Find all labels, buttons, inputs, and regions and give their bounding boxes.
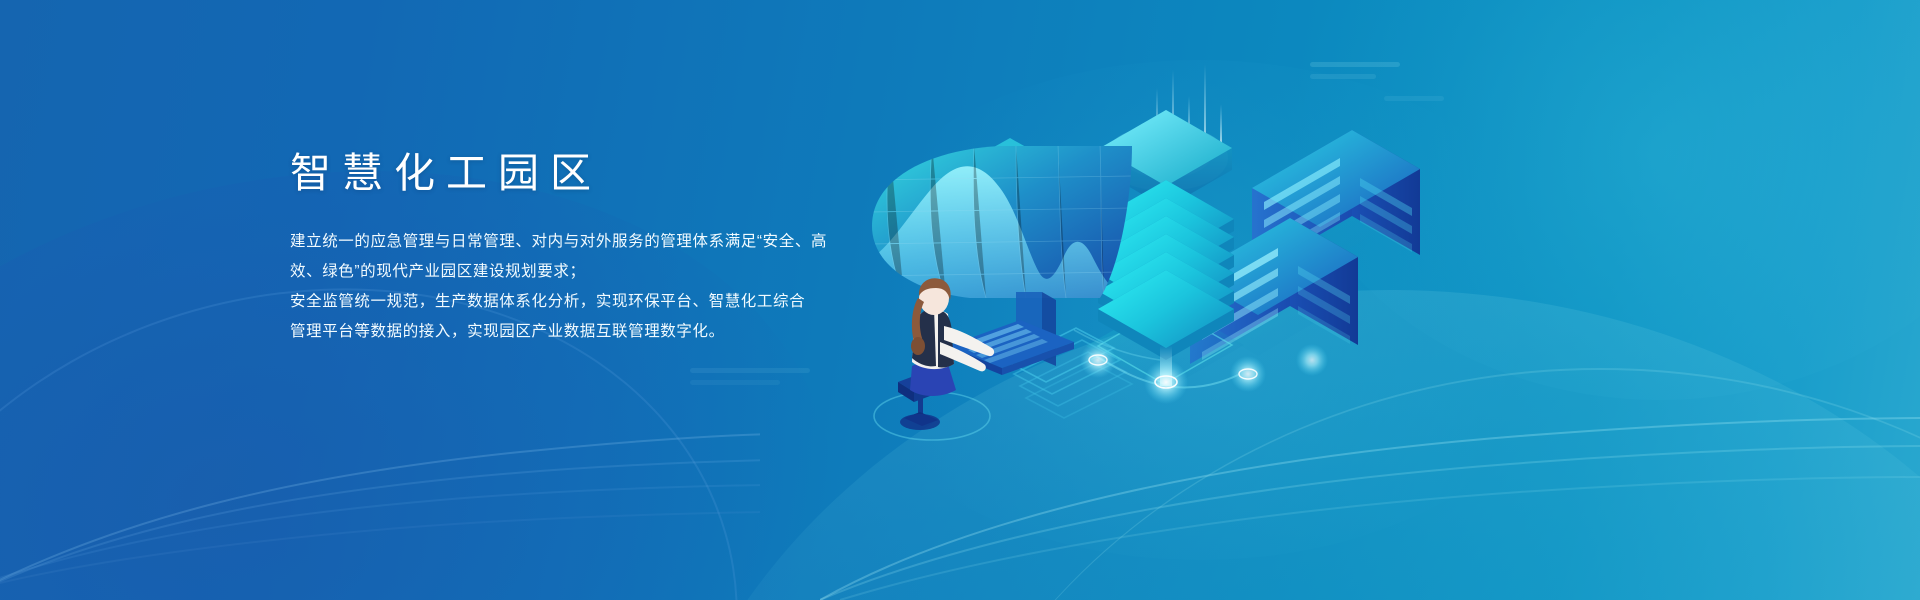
- banner-description: 建立统一的应急管理与日常管理、对内与对外服务的管理体系满足“安全、高 效、绿色”…: [290, 227, 910, 347]
- banner-copy: 智慧化工园区 建立统一的应急管理与日常管理、对内与对外服务的管理体系满足“安全、…: [290, 148, 910, 347]
- page-title: 智慧化工园区: [290, 148, 910, 199]
- hero-illustration: [860, 30, 1420, 460]
- glow-node: [1296, 344, 1328, 376]
- description-line-4: 管理平台等数据的接入，实现园区产业数据互联管理数字化。: [290, 317, 910, 347]
- glow-node: [1230, 356, 1266, 392]
- glow-node: [1080, 342, 1116, 378]
- description-line-3: 安全监管统一规范，生产数据体系化分析，实现环保平台、智慧化工综合: [290, 287, 910, 317]
- description-line-1: 建立统一的应急管理与日常管理、对内与对外服务的管理体系满足“安全、高: [290, 227, 910, 257]
- description-line-2: 效、绿色”的现代产业园区建设规划要求；: [290, 257, 910, 287]
- glow-node: [1144, 360, 1188, 404]
- decor-lines-lower-left: [690, 368, 810, 392]
- hero-banner: 智慧化工园区 建立统一的应急管理与日常管理、对内与对外服务的管理体系满足“安全、…: [0, 0, 1920, 600]
